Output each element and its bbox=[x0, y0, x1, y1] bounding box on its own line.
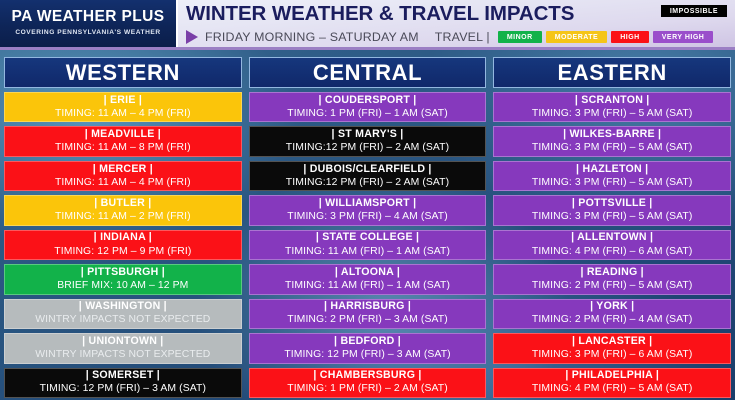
weather-graphic: PA WEATHER PLUS COVERING PENNSYLVANIA'S … bbox=[0, 0, 735, 400]
city-name: | YORK | bbox=[590, 301, 634, 312]
header-bar: PA WEATHER PLUS COVERING PENNSYLVANIA'S … bbox=[0, 0, 735, 50]
city-impact-cell: | WASHINGTON |WINTRY IMPACTS NOT EXPECTE… bbox=[4, 299, 242, 329]
city-timing: TIMING: 12 PM – 9 PM (FRI) bbox=[54, 247, 191, 258]
city-impact-cell: | ALLENTOWN |TIMING: 4 PM (FRI) – 6 AM (… bbox=[493, 230, 731, 260]
legend-chip-very-high: VERY HIGH bbox=[653, 31, 714, 43]
city-timing: TIMING: 11 AM – 4 PM (FRI) bbox=[55, 109, 191, 120]
city-timing: TIMING: 12 PM (FRI) – 3 AM (SAT) bbox=[40, 384, 206, 395]
city-impact-cell: | YORK |TIMING: 2 PM (FRI) – 4 AM (SAT) bbox=[493, 299, 731, 329]
city-impact-cell: | SCRANTON |TIMING: 3 PM (FRI) – 5 AM (S… bbox=[493, 92, 731, 122]
city-name: | SCRANTON | bbox=[575, 95, 650, 106]
city-name: | LANCASTER | bbox=[572, 336, 652, 347]
city-impact-cell: | HARRISBURG |TIMING: 2 PM (FRI) – 3 AM … bbox=[249, 299, 487, 329]
city-name: | INDIANA | bbox=[94, 232, 152, 243]
city-impact-cell: | BEDFORD |TIMING: 12 PM (FRI) – 3 AM (S… bbox=[249, 333, 487, 363]
city-impact-cell: | SOMERSET |TIMING: 12 PM (FRI) – 3 AM (… bbox=[4, 368, 242, 398]
city-name: | MEADVILLE | bbox=[85, 129, 161, 140]
city-timing: TIMING: 11 AM – 4 PM (FRI) bbox=[55, 178, 191, 189]
city-impact-cell: | ALTOONA |TIMING: 11 AM (FRI) – 1 AM (S… bbox=[249, 264, 487, 294]
city-timing: TIMING: 3 PM (FRI) – 4 AM (SAT) bbox=[287, 212, 448, 223]
city-name: | HAZLETON | bbox=[576, 164, 648, 175]
city-name: | WASHINGTON | bbox=[79, 301, 167, 312]
city-name: | READING | bbox=[580, 267, 643, 278]
region-column-central: CENTRAL| COUDERSPORT |TIMING: 1 PM (FRI)… bbox=[249, 57, 487, 398]
city-name: | BEDFORD | bbox=[334, 336, 401, 347]
city-name: | BUTLER | bbox=[94, 198, 151, 209]
city-timing: TIMING: 11 AM – 8 PM (FRI) bbox=[55, 143, 191, 154]
city-name: | ALTOONA | bbox=[335, 267, 400, 278]
city-impact-cell: | HAZLETON |TIMING: 3 PM (FRI) – 5 AM (S… bbox=[493, 161, 731, 191]
city-timing: TIMING:12 PM (FRI) – 2 AM (SAT) bbox=[286, 178, 449, 189]
region-column-eastern: EASTERN| SCRANTON |TIMING: 3 PM (FRI) – … bbox=[493, 57, 731, 398]
header-subrow: FRIDAY MORNING – SATURDAY AM TRAVEL | MI… bbox=[186, 29, 735, 44]
city-impact-cell: | DUBOIS/CLEARFIELD |TIMING:12 PM (FRI) … bbox=[249, 161, 487, 191]
legend-chip-moderate: MODERATE bbox=[546, 31, 608, 43]
brand-title: PA WEATHER PLUS bbox=[12, 9, 165, 25]
city-name: | COUDERSPORT | bbox=[319, 95, 417, 106]
city-timing: TIMING: 1 PM (FRI) – 2 AM (SAT) bbox=[287, 384, 448, 395]
city-timing: TIMING: 2 PM (FRI) – 3 AM (SAT) bbox=[287, 315, 448, 326]
city-timing: BRIEF MIX: 10 AM – 12 PM bbox=[57, 281, 188, 292]
city-name: | SOMERSET | bbox=[86, 370, 160, 381]
city-impact-cell: | ST MARY'S |TIMING:12 PM (FRI) – 2 AM (… bbox=[249, 126, 487, 156]
header-subtitle: FRIDAY MORNING – SATURDAY AM bbox=[205, 30, 419, 44]
brand-tagline: COVERING PENNSYLVANIA'S WEATHER bbox=[15, 29, 160, 36]
city-timing: TIMING: 4 PM (FRI) – 5 AM (SAT) bbox=[532, 384, 693, 395]
city-impact-cell: | INDIANA |TIMING: 12 PM – 9 PM (FRI) bbox=[4, 230, 242, 260]
legend-chip-impossible: IMPOSSIBLE bbox=[661, 5, 727, 17]
city-timing: TIMING: 4 PM (FRI) – 6 AM (SAT) bbox=[532, 247, 693, 258]
city-name: | STATE COLLEGE | bbox=[316, 232, 419, 243]
city-timing: TIMING: 3 PM (FRI) – 5 AM (SAT) bbox=[532, 178, 693, 189]
city-name: | UNIONTOWN | bbox=[82, 336, 163, 347]
play-triangle-icon bbox=[186, 30, 198, 44]
city-impact-cell: | COUDERSPORT |TIMING: 1 PM (FRI) – 1 AM… bbox=[249, 92, 487, 122]
impact-grid: WESTERN| ERIE |TIMING: 11 AM – 4 PM (FRI… bbox=[0, 53, 735, 400]
city-impact-cell: | POTTSVILLE |TIMING: 3 PM (FRI) – 5 AM … bbox=[493, 195, 731, 225]
city-impact-cell: | WILLIAMSPORT |TIMING: 3 PM (FRI) – 4 A… bbox=[249, 195, 487, 225]
city-name: | POTTSVILLE | bbox=[572, 198, 653, 209]
city-impact-cell: | BUTLER |TIMING: 11 AM – 2 PM (FRI) bbox=[4, 195, 242, 225]
city-impact-cell: | STATE COLLEGE |TIMING: 11 AM (FRI) – 1… bbox=[249, 230, 487, 260]
city-name: | WILKES-BARRE | bbox=[563, 129, 661, 140]
city-name: | DUBOIS/CLEARFIELD | bbox=[303, 164, 431, 175]
city-impact-cell: | MEADVILLE |TIMING: 11 AM – 8 PM (FRI) bbox=[4, 126, 242, 156]
city-timing: TIMING: 3 PM (FRI) – 6 AM (SAT) bbox=[532, 350, 693, 361]
city-name: | CHAMBERSBURG | bbox=[313, 370, 421, 381]
city-impact-cell: | ERIE |TIMING: 11 AM – 4 PM (FRI) bbox=[4, 92, 242, 122]
city-name: | HARRISBURG | bbox=[324, 301, 411, 312]
city-timing: TIMING: 2 PM (FRI) – 5 AM (SAT) bbox=[532, 281, 693, 292]
city-name: | MERCER | bbox=[93, 164, 153, 175]
city-impact-cell: | WILKES-BARRE |TIMING: 3 PM (FRI) – 5 A… bbox=[493, 126, 731, 156]
city-timing: TIMING: 12 PM (FRI) – 3 AM (SAT) bbox=[284, 350, 450, 361]
city-timing: TIMING: 11 AM (FRI) – 1 AM (SAT) bbox=[285, 247, 450, 258]
city-impact-cell: | PITTSBURGH |BRIEF MIX: 10 AM – 12 PM bbox=[4, 264, 242, 294]
city-name: | PHILADELPHIA | bbox=[565, 370, 659, 381]
city-timing: TIMING: 3 PM (FRI) – 5 AM (SAT) bbox=[532, 109, 693, 120]
city-timing: TIMING: 3 PM (FRI) – 5 AM (SAT) bbox=[532, 212, 693, 223]
city-impact-cell: | UNIONTOWN |WINTRY IMPACTS NOT EXPECTED bbox=[4, 333, 242, 363]
region-heading: WESTERN bbox=[4, 57, 242, 88]
city-timing: WINTRY IMPACTS NOT EXPECTED bbox=[35, 350, 210, 361]
city-impact-cell: | MERCER |TIMING: 11 AM – 4 PM (FRI) bbox=[4, 161, 242, 191]
city-timing: TIMING: 3 PM (FRI) – 5 AM (SAT) bbox=[532, 143, 693, 154]
region-heading: CENTRAL bbox=[249, 57, 487, 88]
brand-logo: PA WEATHER PLUS COVERING PENNSYLVANIA'S … bbox=[0, 0, 178, 47]
city-impact-cell: | CHAMBERSBURG |TIMING: 1 PM (FRI) – 2 A… bbox=[249, 368, 487, 398]
city-timing: TIMING:12 PM (FRI) – 2 AM (SAT) bbox=[286, 143, 449, 154]
header-content: WINTER WEATHER & TRAVEL IMPACTS FRIDAY M… bbox=[178, 0, 735, 47]
city-name: | PITTSBURGH | bbox=[81, 267, 165, 278]
city-impact-cell: | PHILADELPHIA |TIMING: 4 PM (FRI) – 5 A… bbox=[493, 368, 731, 398]
city-impact-cell: | LANCASTER |TIMING: 3 PM (FRI) – 6 AM (… bbox=[493, 333, 731, 363]
city-name: | ST MARY'S | bbox=[332, 129, 404, 140]
city-name: | ALLENTOWN | bbox=[571, 232, 653, 243]
legend-chip-high: HIGH bbox=[611, 31, 649, 43]
travel-label: TRAVEL | bbox=[435, 30, 490, 44]
city-name: | WILLIAMSPORT | bbox=[319, 198, 417, 209]
legend-chip-minor: MINOR bbox=[498, 31, 542, 43]
city-timing: TIMING: 1 PM (FRI) – 1 AM (SAT) bbox=[287, 109, 448, 120]
page-title: WINTER WEATHER & TRAVEL IMPACTS bbox=[186, 4, 735, 25]
city-name: | ERIE | bbox=[104, 95, 143, 106]
impact-legend: MINOR MODERATE HIGH VERY HIGH bbox=[498, 31, 714, 43]
city-timing: TIMING: 2 PM (FRI) – 4 AM (SAT) bbox=[532, 315, 693, 326]
city-impact-cell: | READING |TIMING: 2 PM (FRI) – 5 AM (SA… bbox=[493, 264, 731, 294]
region-heading: EASTERN bbox=[493, 57, 731, 88]
city-timing: WINTRY IMPACTS NOT EXPECTED bbox=[35, 315, 210, 326]
city-timing: TIMING: 11 AM (FRI) – 1 AM (SAT) bbox=[285, 281, 450, 292]
region-column-western: WESTERN| ERIE |TIMING: 11 AM – 4 PM (FRI… bbox=[4, 57, 242, 398]
city-timing: TIMING: 11 AM – 2 PM (FRI) bbox=[55, 212, 191, 223]
